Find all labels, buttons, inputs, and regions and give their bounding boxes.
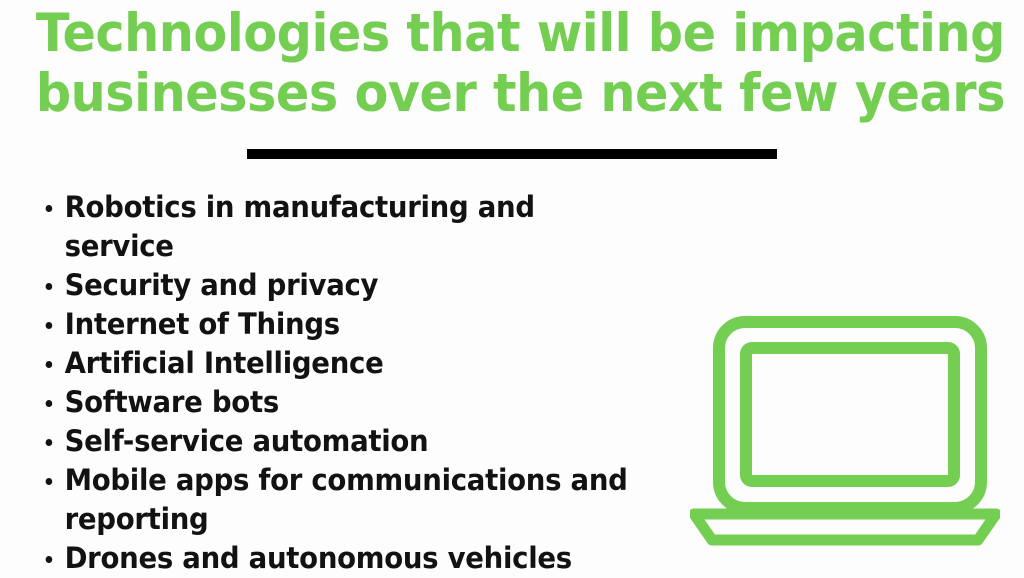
page-title-line-2: businesses over the next few years [36, 64, 988, 124]
list-item: Security and privacy [38, 266, 646, 305]
laptop-icon [690, 305, 1000, 550]
list-item: Internet of Things [38, 305, 646, 344]
laptop-screen-outline [746, 348, 954, 481]
page-title: Technologies that will be impacting busi… [0, 4, 1024, 124]
list-item: Artificial Intelligence [38, 344, 646, 383]
title-underline-rule [247, 149, 777, 159]
list-item: Software bots [38, 383, 646, 422]
laptop-base-outline [694, 514, 996, 540]
list-item: Self-service automation [38, 422, 646, 461]
slide-canvas: Technologies that will be impacting busi… [0, 0, 1024, 578]
list-item: Robotics in manufacturing and service [38, 188, 646, 266]
list-item: Mobile apps for communications and repor… [38, 461, 646, 539]
page-title-line-1: Technologies that will be impacting [36, 4, 988, 64]
list-item: Drones and autonomous vehicles [38, 539, 646, 578]
technology-bullet-list: Robotics in manufacturing and service Se… [38, 188, 678, 578]
